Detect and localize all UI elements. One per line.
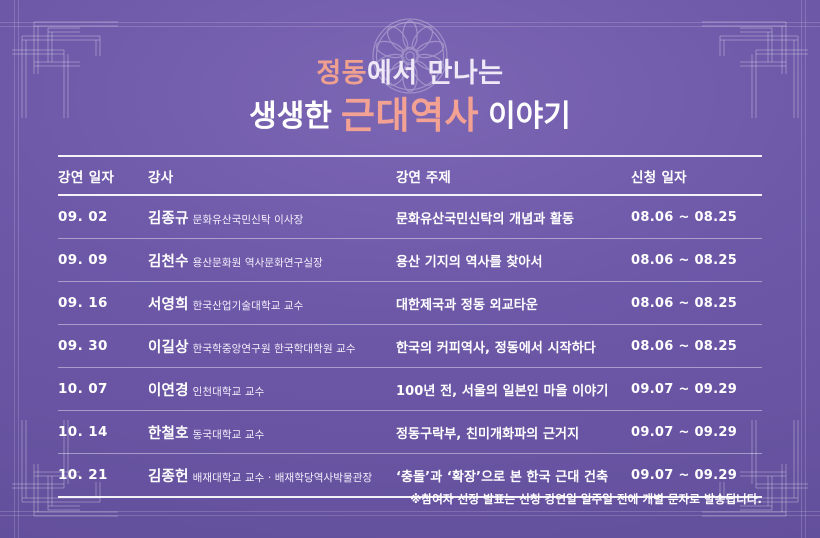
cell-date: 09. 30: [58, 338, 148, 354]
cell-instructor: 이길상한국학중앙연구원 한국학대학원 교수: [148, 336, 396, 357]
instructor-name: 김종규: [148, 211, 189, 227]
instructor-affiliation: 한국학중앙연구원 한국학대학원 교수: [193, 343, 356, 355]
instructor-name: 이연경: [148, 383, 189, 399]
table-header-row: 강연 일자 강사 강연 주제 신청 일자: [58, 157, 762, 194]
cell-instructor: 이연경인천대학교 교수: [148, 379, 396, 400]
title-line-2: 생생한근대역사이야기: [0, 95, 820, 138]
title-line-1: 정동에서 만나는: [0, 58, 820, 89]
cell-date: 10. 21: [58, 467, 148, 483]
instructor-affiliation: 동국대학교 교수: [193, 429, 265, 441]
poster-title-block: 정동에서 만나는 생생한근대역사이야기: [0, 58, 820, 138]
cell-apply-period: 09.07 ~ 09.29: [631, 468, 762, 483]
table-row: 10. 07 이연경인천대학교 교수 100년 전, 서울의 일본인 마을 이야…: [58, 368, 762, 410]
cell-topic: 정동구락부, 친미개화파의 근거지: [396, 423, 631, 442]
instructor-name: 김천수: [148, 254, 189, 270]
instructor-name: 서영희: [148, 297, 189, 313]
instructor-name: 이길상: [148, 340, 189, 356]
cell-topic: ‘충돌’과 ‘확장’으로 본 한국 근대 건축: [396, 466, 631, 485]
cell-instructor: 서영희한국산업기술대학교 교수: [148, 293, 396, 314]
cell-date: 09. 16: [58, 295, 148, 311]
cell-instructor: 한철호동국대학교 교수: [148, 422, 396, 443]
title-iyagi: 이야기: [488, 99, 571, 134]
column-header-topic: 강연 주제: [396, 166, 631, 186]
cell-apply-period: 08.06 ~ 08.25: [631, 296, 762, 311]
instructor-affiliation: 용산문화원 역사문화연구실장: [193, 257, 323, 269]
cell-apply-period: 09.07 ~ 09.29: [631, 382, 762, 397]
cell-topic: 문화유산국민신탁의 개념과 활동: [396, 208, 631, 227]
instructor-affiliation: 인천대학교 교수: [193, 386, 265, 398]
column-header-instructor: 강사: [148, 166, 396, 186]
cell-topic: 한국의 커피역사, 정동에서 시작하다: [396, 337, 631, 356]
title-accent-modern-history: 근대역사: [341, 94, 479, 137]
title-saengsaenghan: 생생한: [249, 99, 332, 134]
cell-apply-period: 09.07 ~ 09.29: [631, 425, 762, 440]
instructor-affiliation: 문화유산국민신탁 이사장: [193, 214, 304, 226]
footnote-notice: ※참여자 선정 발표는 신청 강연일 일주일 전에 개별 문자로 발송됩니다.: [410, 491, 762, 507]
cell-apply-period: 08.06 ~ 08.25: [631, 339, 762, 354]
cell-instructor: 김종규문화유산국민신탁 이사장: [148, 207, 396, 228]
poster-canvas: 정동에서 만나는 생생한근대역사이야기 강연 일자 강사 강연 주제 신청 일자…: [0, 0, 820, 538]
title-accent-jeongdong: 정동: [316, 58, 367, 89]
cell-instructor: 김천수용산문화원 역사문화연구실장: [148, 250, 396, 271]
instructor-name: 김종헌: [148, 469, 189, 485]
table-row: 10. 21 김종헌배재대학교 교수 · 배재학당역사박물관장 ‘충돌’과 ‘확…: [58, 454, 762, 496]
lecture-schedule-table: 강연 일자 강사 강연 주제 신청 일자 09. 02 김종규문화유산국민신탁 …: [58, 155, 762, 498]
cell-apply-period: 08.06 ~ 08.25: [631, 253, 762, 268]
table-row: 10. 14 한철호동국대학교 교수 정동구락부, 친미개화파의 근거지 09.…: [58, 411, 762, 453]
cell-date: 10. 07: [58, 381, 148, 397]
cell-topic: 용산 기지의 역사를 찾아서: [396, 251, 631, 270]
cell-date: 09. 02: [58, 209, 148, 225]
table-row: 09. 30 이길상한국학중앙연구원 한국학대학원 교수 한국의 커피역사, 정…: [58, 325, 762, 367]
instructor-affiliation: 한국산업기술대학교 교수: [193, 300, 304, 312]
cell-instructor: 김종헌배재대학교 교수 · 배재학당역사박물관장: [148, 465, 396, 486]
frame-rule-bottom-outer: [0, 515, 820, 516]
instructor-affiliation: 배재대학교 교수 · 배재학당역사박물관장: [193, 472, 373, 484]
column-header-apply: 신청 일자: [631, 166, 762, 186]
frame-rule-bottom-inner: [0, 511, 820, 512]
title-line-1-rest: 에서 만나는: [367, 58, 504, 89]
cell-apply-period: 08.06 ~ 08.25: [631, 210, 762, 225]
cell-date: 09. 09: [58, 252, 148, 268]
table-row: 09. 09 김천수용산문화원 역사문화연구실장 용산 기지의 역사를 찾아서 …: [58, 239, 762, 281]
cell-topic: 100년 전, 서울의 일본인 마을 이야기: [396, 380, 631, 399]
table-row: 09. 16 서영희한국산업기술대학교 교수 대한제국과 정동 외교타운 08.…: [58, 282, 762, 324]
cell-topic: 대한제국과 정동 외교타운: [396, 294, 631, 313]
frame-rule-top-inner: [0, 26, 820, 27]
table-row: 09. 02 김종규문화유산국민신탁 이사장 문화유산국민신탁의 개념과 활동 …: [58, 196, 762, 238]
frame-rule-top-outer: [0, 22, 820, 23]
column-header-date: 강연 일자: [58, 166, 148, 186]
cell-date: 10. 14: [58, 424, 148, 440]
instructor-name: 한철호: [148, 426, 189, 442]
